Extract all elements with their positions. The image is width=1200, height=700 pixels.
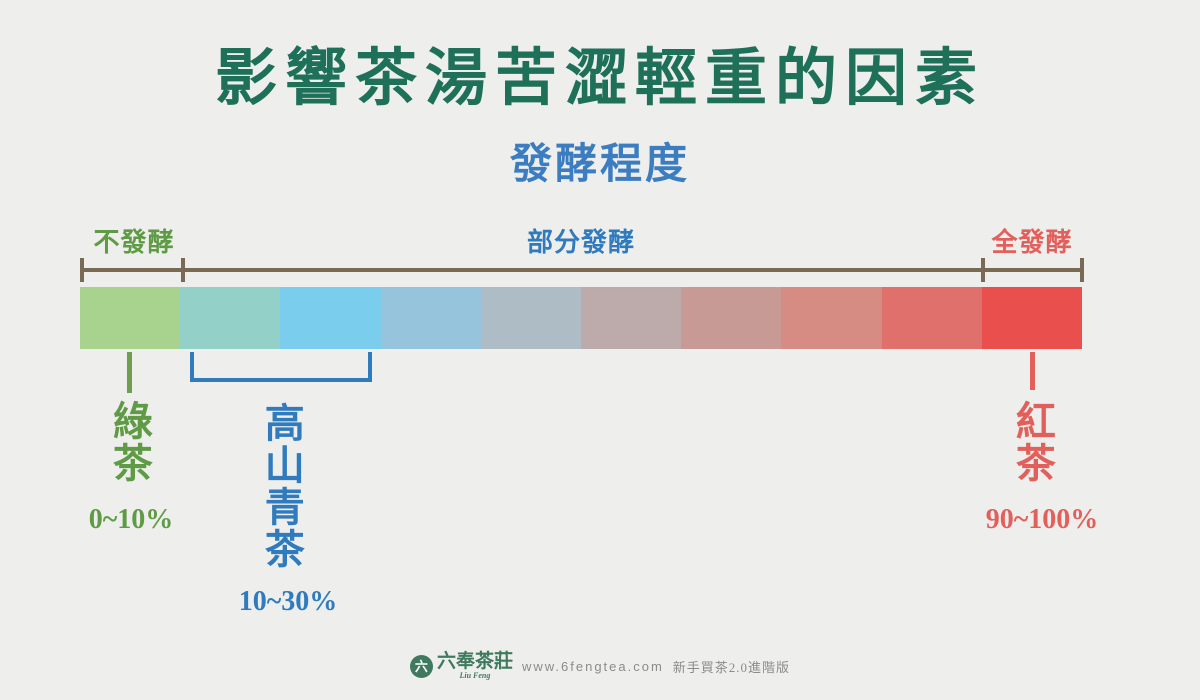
tea-name-black-tea: 紅茶 <box>1011 400 1053 484</box>
bar-segment-50-60 <box>581 287 681 349</box>
tea-percent-black-tea: 90~100% <box>986 506 1099 534</box>
ruler-tick-10 <box>181 258 185 282</box>
ruler-tick-90 <box>981 258 985 282</box>
brand-name-cn: 六奉茶莊 <box>437 652 513 671</box>
stage-label-partial-fermentation: 部分發酵 <box>527 230 635 256</box>
pointer-tick-black-tea <box>1030 352 1035 390</box>
bar-segment-10-20 <box>180 287 280 349</box>
stage-label-no-fermentation: 不發酵 <box>93 230 174 256</box>
footer-website-url[interactable]: www.6fengtea.com <box>522 659 664 674</box>
bar-segment-40-50 <box>481 287 581 349</box>
page-title: 影響茶湯苦澀輕重的因素 <box>0 48 1200 110</box>
brand-name-en: Liu Feng <box>459 672 490 680</box>
ruler-baseline <box>80 268 1082 272</box>
pointer-bracket-high-mountain-oolong <box>190 352 372 382</box>
brand-wordmark: 六奉茶莊 Liu Feng <box>437 652 513 680</box>
fermentation-gradient-bar <box>80 287 1082 349</box>
stage-label-full-fermentation: 全發酵 <box>991 230 1072 256</box>
bar-segment-90-100 <box>982 287 1082 349</box>
tea-percent-green-tea: 0~10% <box>89 506 174 534</box>
tea-name-high-mountain-oolong: 高山青茶 <box>260 402 302 570</box>
tea-name-green-tea: 綠茶 <box>108 400 150 484</box>
brand-logo: 六 六奉茶莊 Liu Feng <box>410 652 513 680</box>
footer-series-tagline: 新手買茶2.0進階版 <box>673 657 790 676</box>
ruler-tick-end <box>1080 258 1084 282</box>
page-subtitle: 發酵程度 <box>0 144 1200 186</box>
footer: 六 六奉茶莊 Liu Feng www.6fengtea.com 新手買茶2.0… <box>0 652 1200 680</box>
bar-segment-0-10 <box>80 287 180 349</box>
bar-segment-20-30 <box>280 287 380 349</box>
bar-segment-80-90 <box>882 287 982 349</box>
liufeng-logo-icon: 六 <box>410 655 433 678</box>
infographic-canvas: 影響茶湯苦澀輕重的因素 發酵程度 不發酵 部分發酵 全發酵 綠茶 0~10% 高… <box>0 0 1200 700</box>
bar-segment-60-70 <box>681 287 781 349</box>
ruler-tick-start <box>80 258 84 282</box>
bar-segment-70-80 <box>781 287 881 349</box>
pointer-tick-green-tea <box>127 352 132 393</box>
bar-segment-30-40 <box>381 287 481 349</box>
tea-percent-high-mountain-oolong: 10~30% <box>239 588 338 616</box>
